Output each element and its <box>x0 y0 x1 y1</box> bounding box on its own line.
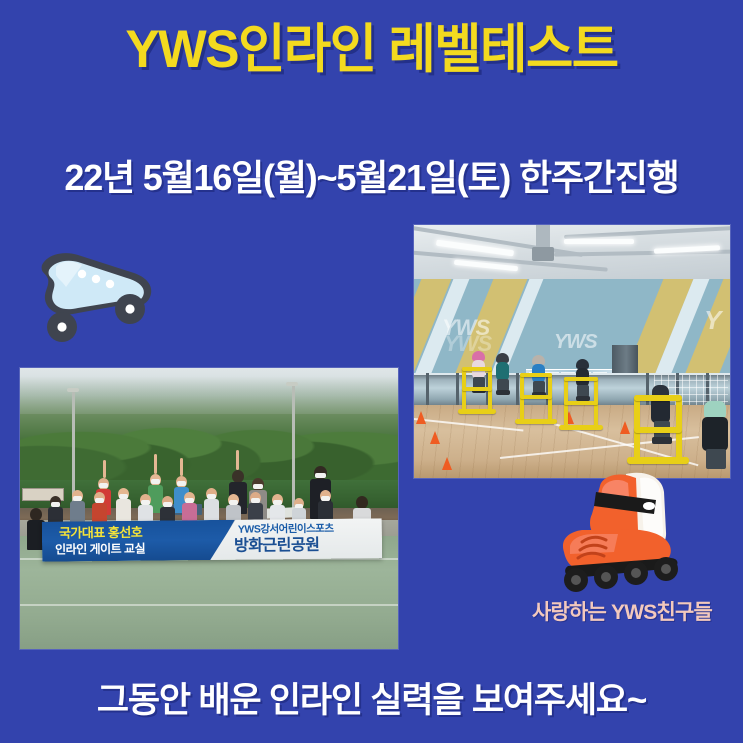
skate-caption: 사랑하는 YWS친구들 <box>512 596 732 626</box>
support-frame <box>634 395 688 473</box>
training-cone <box>430 431 440 444</box>
support-frame <box>564 377 602 435</box>
railing-post <box>426 373 429 407</box>
support-frame <box>462 367 496 419</box>
inline-skate-icon <box>540 470 704 595</box>
event-date-subtitle: 22년 5월16일(월)~5월21일(토) 한주간진행 <box>0 158 743 198</box>
event-banner: 국가대표 홍선호 인라인 게이트 교실 YWS강서어린이스포츠 방화근린공원 <box>42 518 382 562</box>
banner-line-1: 국가대표 홍선호 <box>59 526 142 540</box>
floor-line <box>414 417 523 432</box>
wall-logo-text: Y <box>704 305 720 336</box>
banner-line-3: YWS강서어린이스포츠 <box>238 524 334 536</box>
banner-line-4: 방화근린공원 <box>234 538 319 555</box>
photo-indoor-gym: YWS YWS YWS Y <box>414 225 730 478</box>
poster-canvas: YWS인라인 레벨테스트 22년 5월16일(월)~5월21일(토) 한주간진행 <box>0 0 743 743</box>
track-lane-line <box>20 604 398 606</box>
training-cone <box>620 421 630 434</box>
ceiling-speaker <box>532 247 554 261</box>
training-cone <box>416 411 426 424</box>
photo-outdoor-group: 국가대표 홍선호 인라인 게이트 교실 YWS강서어린이스포츠 방화근린공원 <box>20 368 398 649</box>
railing-post <box>456 373 459 407</box>
lamp-head <box>286 382 298 386</box>
banner-line-2: 인라인 게이트 교실 <box>55 543 145 556</box>
closing-message: 그동안 배운 인라인 실력을 보여주세요~ <box>0 672 743 723</box>
wall-logo-text: YWS <box>444 331 491 357</box>
wall-logo-text: YWS <box>554 331 597 354</box>
training-cone <box>442 457 452 470</box>
page-title: YWS인라인 레벨테스트 <box>11 22 732 78</box>
support-frame <box>520 373 556 429</box>
railing-post <box>516 373 519 407</box>
roller-skate-icon <box>22 243 162 343</box>
ceiling-light <box>564 239 634 244</box>
lamp-head <box>67 388 79 392</box>
ceiling-duct <box>536 225 550 249</box>
